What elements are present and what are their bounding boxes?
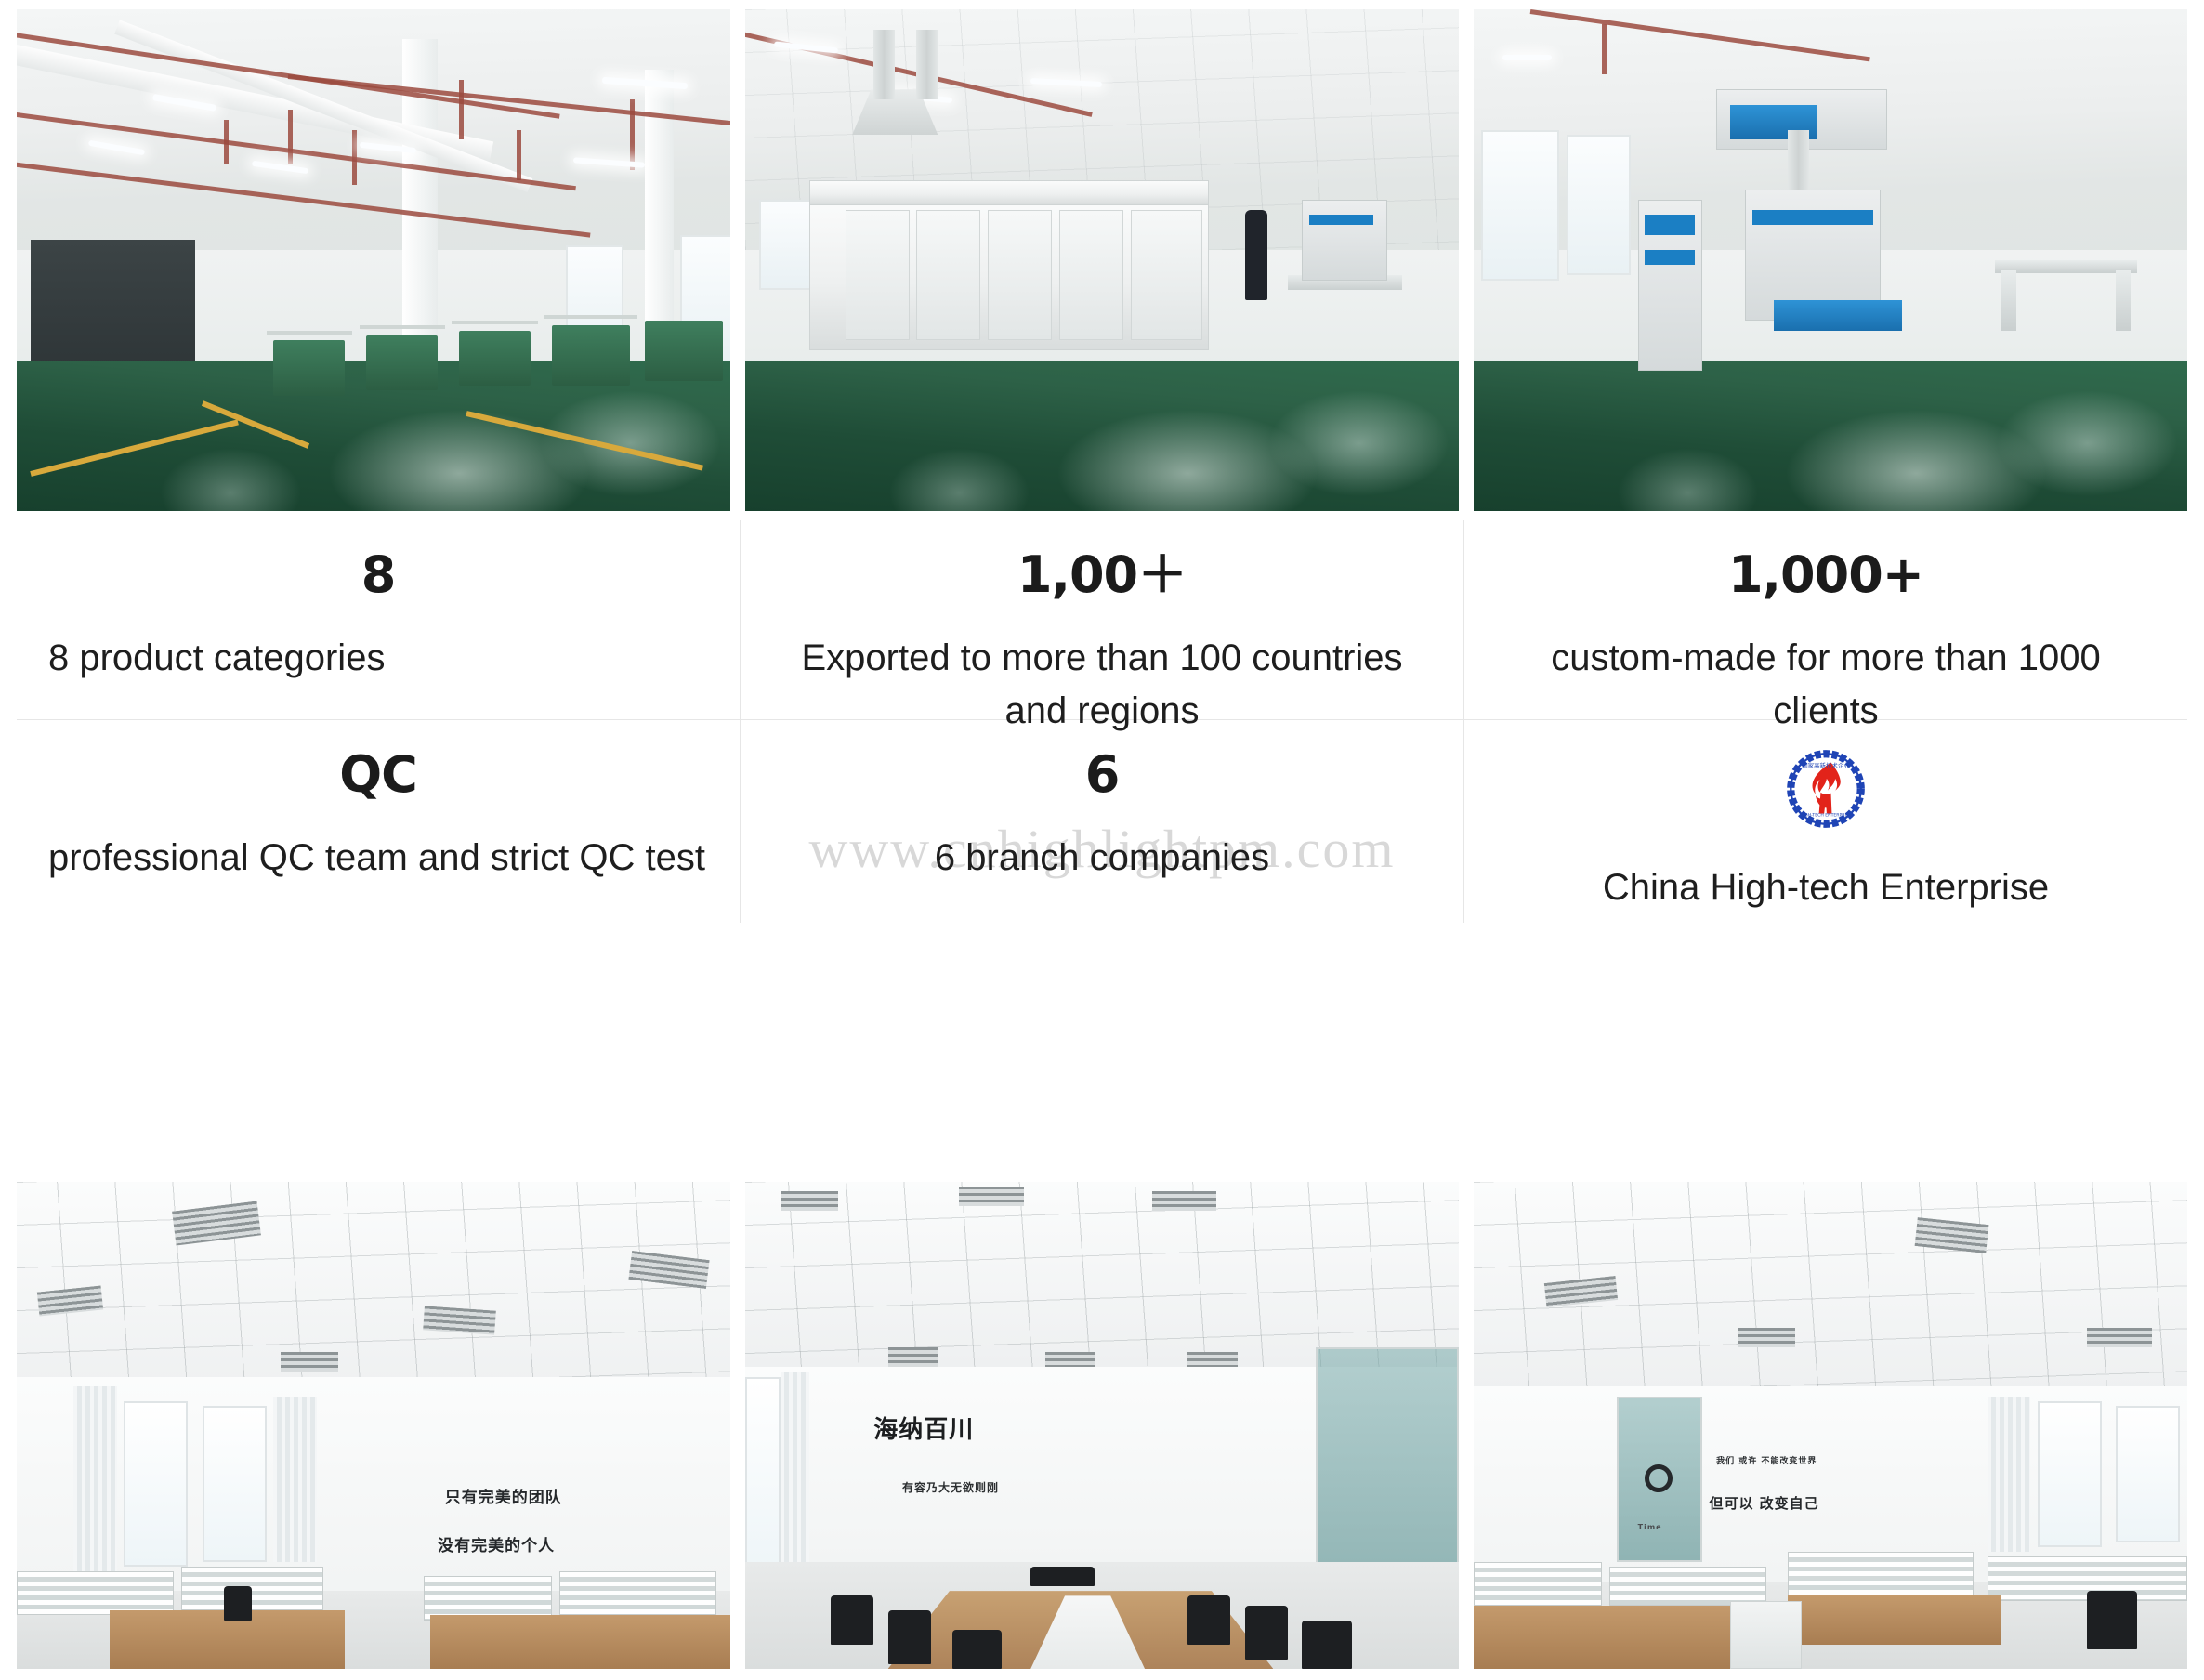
mixing-equipment-photo	[1474, 9, 2187, 511]
stat-card-exported-countries: 1,00＋ Exported to more than 100 countrie…	[740, 520, 1463, 720]
stat-number: 6	[1085, 746, 1120, 804]
stat-card-custom-made-clients: 1,000+ custom-made for more than 1000 cl…	[1463, 520, 2187, 720]
stat-card-branch-companies: 6 6 branch companies	[740, 720, 1463, 923]
stat-description: professional QC team and strict QC test	[48, 832, 708, 885]
stat-number: 1,000+	[1728, 546, 1923, 604]
factory-workshop-photo	[17, 9, 730, 511]
stat-number: 1,00＋	[1017, 546, 1187, 604]
page-root: www.cnhighlightpm.com 8 8 product catego…	[0, 0, 2204, 1680]
office-workstations-photo: 我们 或许 不能改变世界 但可以 改变自己 Time	[1474, 1182, 2187, 1669]
meeting-room-calligraphy-sub: 有容乃大无欲则刚	[902, 1479, 999, 1495]
stat-card-product-categories: 8 8 product categories	[17, 520, 740, 720]
workstation-wall-decal-top: 我们 或许 不能改变世界	[1716, 1454, 1817, 1466]
workstation-clock-label: Time	[1638, 1523, 1662, 1531]
office-wall-decal-line1: 只有完美的团队	[445, 1484, 562, 1507]
svg-text:HIGH-TECH ENTERPRISE: HIGH-TECH ENTERPRISE	[1800, 812, 1851, 818]
stat-description: 8 product categories	[48, 632, 708, 685]
open-office-photo: 只有完美的团队 没有完美的个人	[17, 1182, 730, 1669]
stats-row-top: 8 8 product categories 1,00＋ Exported to…	[17, 520, 2187, 720]
stat-card-high-tech-enterprise: 国家高新技术企业 HIGH-TECH ENTERPRISE China High…	[1463, 720, 2187, 923]
meeting-room-photo: 海纳百川 有容乃大无欲则刚	[745, 1182, 1459, 1669]
workstation-wall-decal-main: 但可以 改变自己	[1709, 1493, 1818, 1513]
svg-text:国家高新技术企业: 国家高新技术企业	[1802, 761, 1850, 769]
meeting-room-calligraphy: 海纳百川	[873, 1411, 974, 1445]
top-photo-row	[17, 9, 2187, 511]
office-wall-decal-line2: 没有完美的个人	[438, 1532, 555, 1555]
production-line-photo	[745, 9, 1459, 511]
logo-container: 国家高新技术企业 HIGH-TECH ENTERPRISE	[1496, 746, 2156, 832]
stat-number: 8	[361, 546, 396, 604]
stat-description: China High-tech Enterprise	[1603, 861, 2049, 914]
stat-card-qc-team: QC professional QC team and strict QC te…	[17, 720, 740, 923]
stats-grid: 8 8 product categories 1,00＋ Exported to…	[17, 520, 2187, 923]
china-high-tech-enterprise-seal-icon: 国家高新技术企业 HIGH-TECH ENTERPRISE	[1783, 746, 1869, 832]
stat-description: 6 branch companies	[772, 832, 1432, 885]
bottom-photo-row: 只有完美的团队 没有完美的个人	[17, 1182, 2187, 1669]
stats-row-bottom: QC professional QC team and strict QC te…	[17, 720, 2187, 923]
stat-number: QC	[339, 746, 417, 804]
